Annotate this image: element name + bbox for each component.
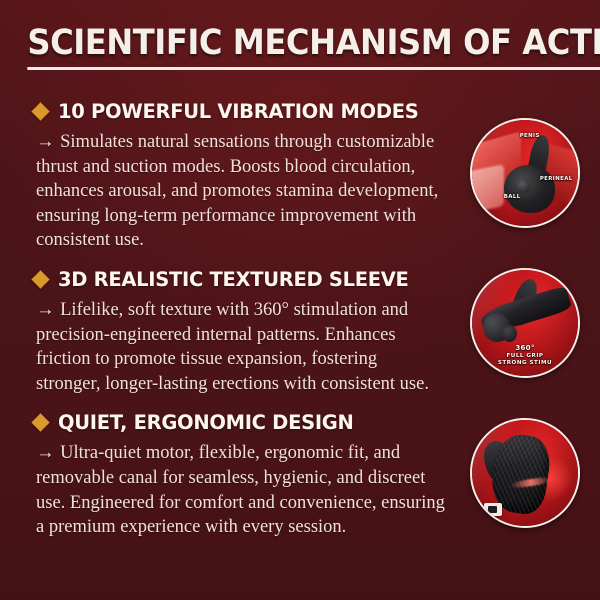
photo-shape-tip	[502, 325, 517, 342]
photo-label-bottom: BALL	[504, 194, 521, 200]
photo-label-top: PENIS	[520, 133, 540, 139]
photo-label-right: PERINEAL	[540, 176, 573, 182]
infographic-page: SCIENTIFIC MECHANISM OF ACTION 10 POWERF…	[0, 0, 600, 600]
product-photo-column: PENIS PERINEAL BALL 360° FULL GRIP STRON…	[0, 0, 600, 600]
product-photo-ergonomic-design	[470, 418, 580, 528]
photo-caption-line2: FULL GRIP	[472, 353, 578, 360]
photo-caption-degrees: 360°	[472, 344, 578, 353]
product-photo-textured-sleeve: 360° FULL GRIP STRONG STIMU	[470, 268, 580, 378]
photo-inner-3	[472, 420, 578, 526]
photo-caption-2: 360° FULL GRIP STRONG STIMU	[472, 344, 578, 366]
photo-badge-icon	[484, 503, 502, 517]
product-photo-vibration-modes: PENIS PERINEAL BALL	[470, 118, 580, 228]
photo-inner-1: PENIS PERINEAL BALL	[472, 120, 578, 226]
photo-caption-line3: STRONG STIMU	[472, 360, 578, 367]
photo-inner-2: 360° FULL GRIP STRONG STIMU	[472, 270, 578, 376]
